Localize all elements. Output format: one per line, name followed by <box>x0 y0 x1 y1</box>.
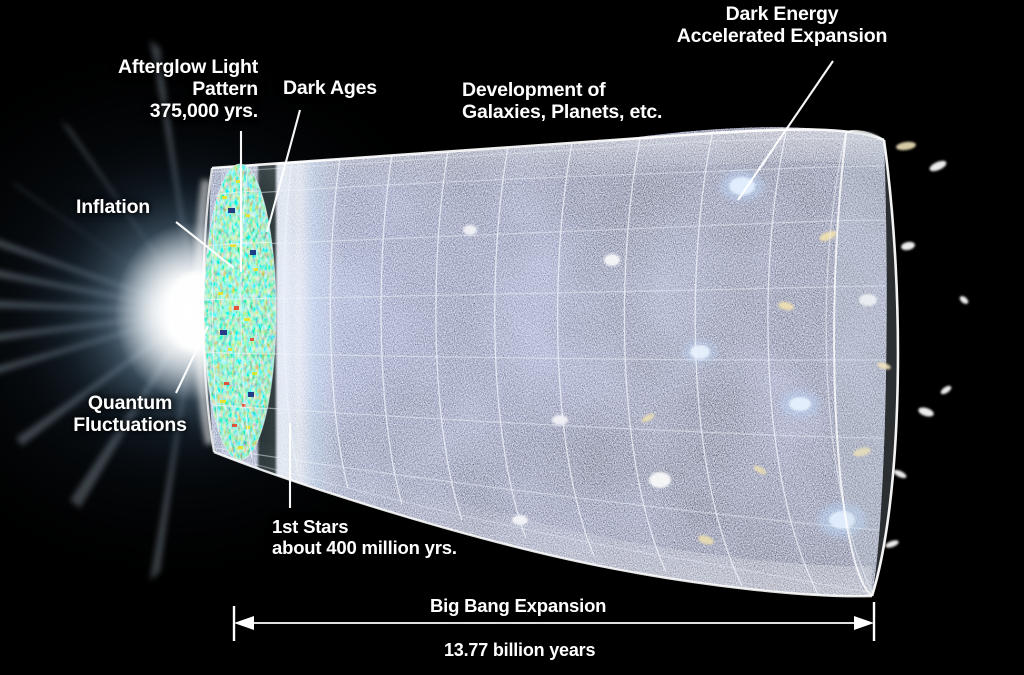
label-afterglow-light-pattern: Afterglow Light Pattern 375,000 yrs. <box>66 56 258 123</box>
label-development-of-galaxies: Development of Galaxies, Planets, etc. <box>462 79 712 123</box>
label-inflation: Inflation <box>76 196 196 218</box>
label-first-stars: 1st Stars about 400 million yrs. <box>272 516 532 558</box>
label-big-bang-expansion: Big Bang Expansion <box>430 595 662 616</box>
label-quantum-fluctuations: Quantum Fluctuations <box>40 392 220 436</box>
label-total-years: 13.77 billion years <box>444 640 654 661</box>
label-dark-energy: Dark Energy Accelerated Expansion <box>648 3 916 47</box>
label-dark-ages: Dark Ages <box>283 77 413 99</box>
universe-timeline-figure: Afterglow Light Pattern 375,000 yrs. Inf… <box>0 0 1024 675</box>
